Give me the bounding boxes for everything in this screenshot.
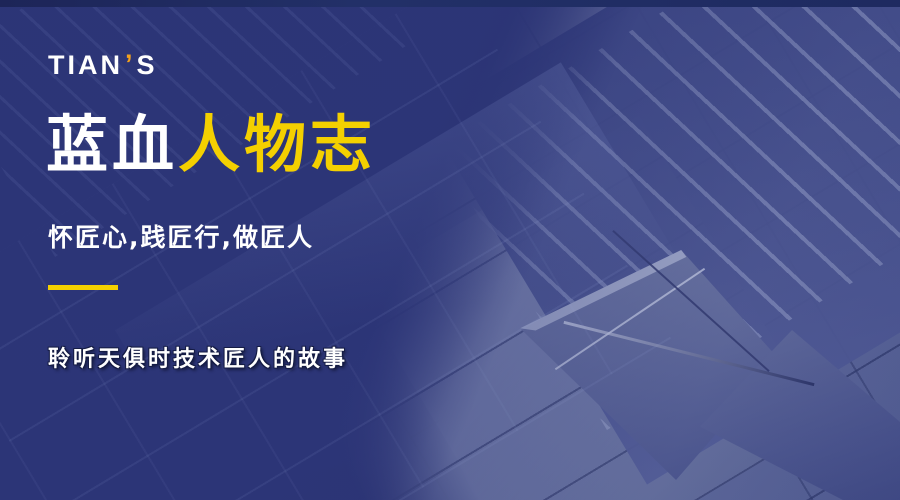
brand-logo-suffix: S xyxy=(137,52,158,79)
brand-logo: TIAN’S xyxy=(48,52,158,79)
brand-logo-text: TIAN xyxy=(48,52,123,79)
page-tagline: 聆听天俱时技术匠人的故事 xyxy=(48,341,348,373)
page-title: 蓝血人物志 xyxy=(46,112,376,179)
yellow-divider xyxy=(48,285,118,290)
page-subtitle: 怀匠心,践匠行,做匠人 xyxy=(48,218,314,254)
page-title-yellow: 人物志 xyxy=(178,108,376,181)
banner-content: TIAN’S 蓝血人物志 怀匠心,践匠行,做匠人 聆听天俱时技术匠人的故事 xyxy=(0,0,900,500)
brand-logo-apostrophe-icon: ’ xyxy=(125,52,136,76)
promo-banner: TIAN’S 蓝血人物志 怀匠心,践匠行,做匠人 聆听天俱时技术匠人的故事 xyxy=(0,0,900,500)
page-title-white: 蓝血 xyxy=(46,108,178,181)
